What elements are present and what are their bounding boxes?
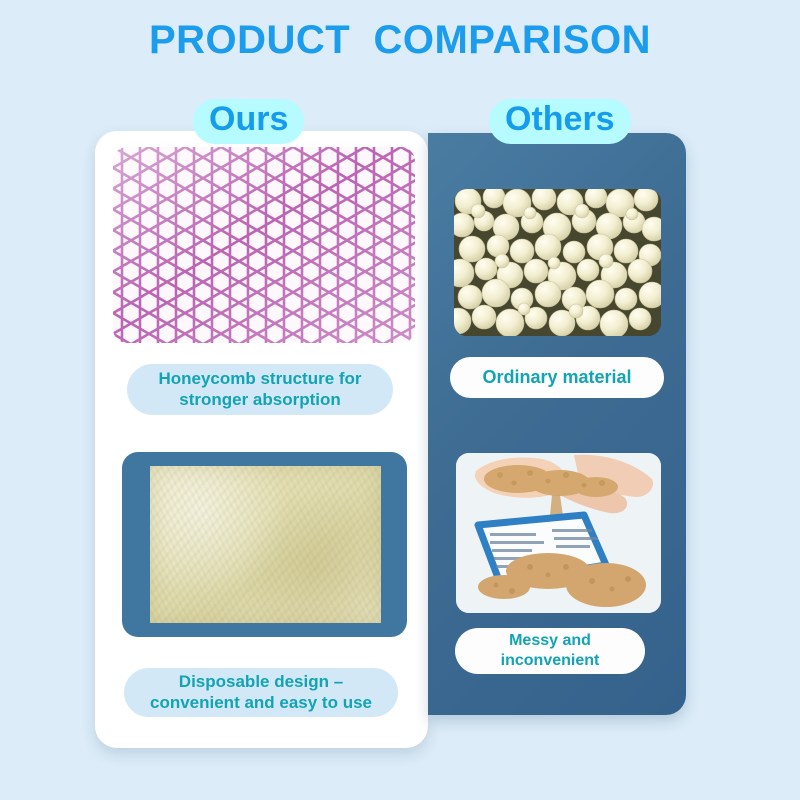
ordinary-beads-image — [454, 189, 661, 336]
spill-photo-illustration — [456, 453, 661, 613]
disposable-pad-image — [122, 452, 407, 637]
others-panel: Ordinary material — [428, 133, 686, 715]
ours-panel: Honeycomb structure for stronger absorpt… — [95, 131, 428, 748]
honeycomb-structure-image — [113, 147, 415, 343]
messy-spill-image — [456, 453, 661, 613]
column-header-ours: Ours — [193, 99, 304, 144]
beads-photo-illustration — [454, 189, 661, 336]
caption-messy: Messy and inconvenient — [455, 628, 645, 674]
page-title: PRODUCT COMPARISON — [0, 18, 800, 63]
column-header-others: Others — [489, 99, 631, 144]
caption-honeycomb: Honeycomb structure for stronger absorpt… — [127, 364, 393, 415]
honeycomb-pattern-icon — [113, 147, 415, 343]
caption-disposable: Disposable design – convenient and easy … — [124, 668, 398, 717]
pad-surface — [150, 466, 381, 623]
caption-ordinary: Ordinary material — [450, 357, 664, 398]
